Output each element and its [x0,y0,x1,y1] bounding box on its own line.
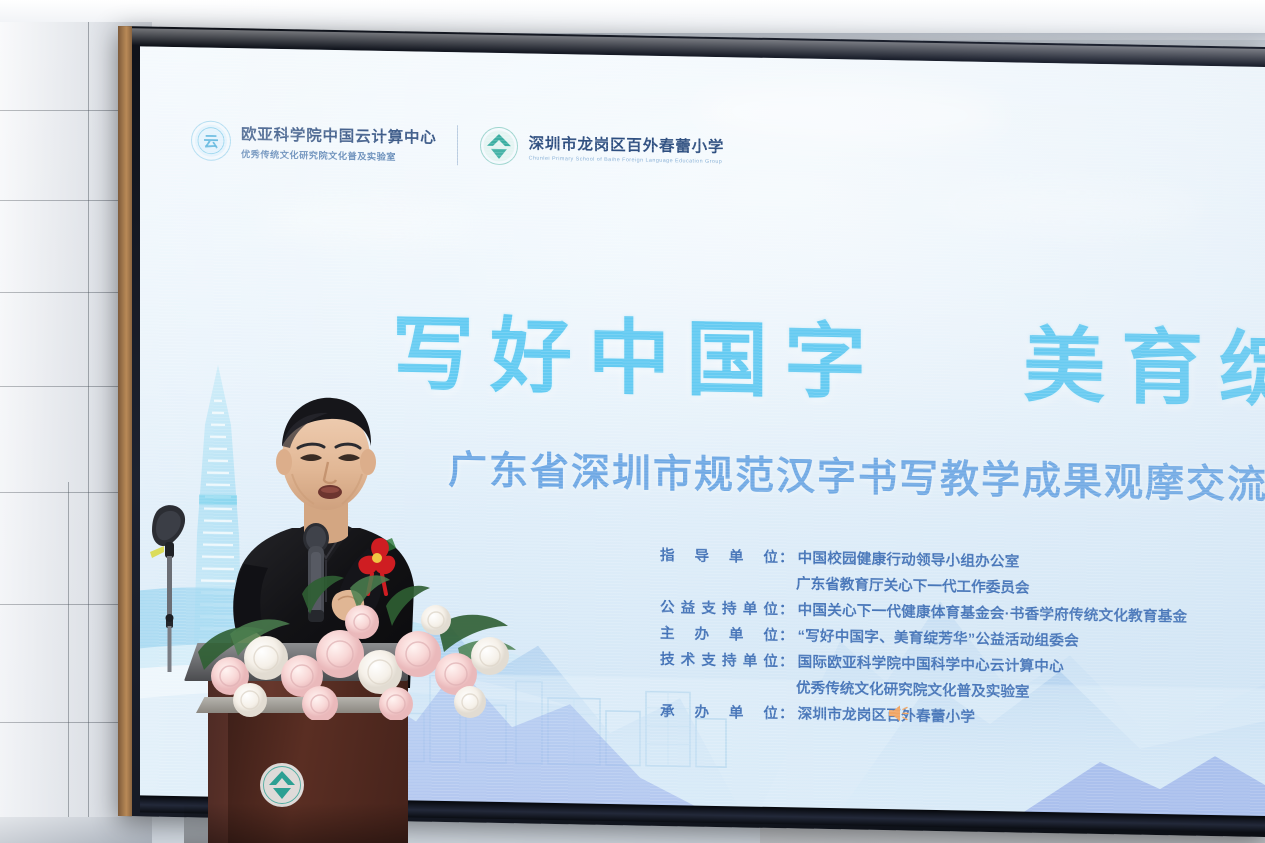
logo-divider [457,125,458,165]
logo-main-text: 欧亚科学院中国云计算中心 [241,122,437,148]
main-title-right: 美育绽芳 [1023,318,1265,421]
credit-colon: ： [779,650,794,671]
credit-label: 技术支持单位 [660,648,778,671]
credit-continuation: 优秀传统文化研究院文化普及实验室 [796,676,1187,704]
credit-row: 公益支持单位 ： 中国关心下一代健康体育基金会·书香学府传统文化教育基金 [660,596,1187,627]
frame-wood-edge [118,26,132,816]
cloud-seal-icon: 云 [190,119,232,162]
podium-shadow [184,803,408,843]
credit-colon: ： [779,624,794,645]
logo-main-text: 深圳市龙岗区百外春蕾小学 [529,132,725,158]
logo-chunlei-school: 深圳市龙岗区百外春蕾小学 Chunlei Primary School of B… [478,125,725,172]
backdrop-credits-block: 指导单位 ： 中国校园健康行动领导小组办公室 广东省教育厅关心下一代工作委员会 … [660,544,1187,731]
credit-label: 公益支持单位 [660,596,778,619]
credit-row: 技术支持单位 ： 国际欧亚科学院中国科学中心云计算中心 [660,648,1187,679]
main-title-left: 写好中国字 [392,306,882,411]
credit-value: “写好中国字、美育绽芳华”公益活动组委会 [798,624,1079,650]
school-crest-icon [258,761,306,809]
credit-colon: ： [779,546,794,567]
stage-photo-scene: 云 欧亚科学院中国云计算中心 优秀传统文化研究院文化普及实验室 [0,0,1265,843]
logo-eurasian-academy: 云 欧亚科学院中国云计算中心 优秀传统文化研究院文化普及实验室 [190,119,437,166]
credit-label: 主办单位 [660,622,778,645]
baseboard [0,817,152,843]
credit-value: 国际欧亚科学院中国科学中心云计算中心 [798,650,1064,676]
logo-sub-text: 优秀传统文化研究院文化普及实验室 [241,146,437,164]
credit-colon: ： [779,702,794,723]
credit-row: 主办单位 ： “写好中国字、美育绽芳华”公益活动组委会 [660,622,1187,653]
credit-label: 承办单位 [660,700,778,723]
credit-value: 中国关心下一代健康体育基金会·书香学府传统文化教育基金 [798,598,1188,626]
floral-arrangement [190,560,520,720]
school-crest-icon [478,125,520,168]
volume-speaker-icon [886,702,912,724]
svg-text:云: 云 [203,133,218,151]
logo-sub-en-text: Chunlei Primary School of Baihe Foreign … [529,156,725,166]
credit-value: 中国校园健康行动领导小组办公室 [798,546,1020,571]
credit-colon: ： [779,598,794,619]
credit-label: 指导单位 [660,544,778,567]
backdrop-main-title: 写好中国字 美育绽芳 [392,313,1265,413]
credit-continuation: 广东省教育厅关心下一代工作委员会 [796,572,1187,600]
